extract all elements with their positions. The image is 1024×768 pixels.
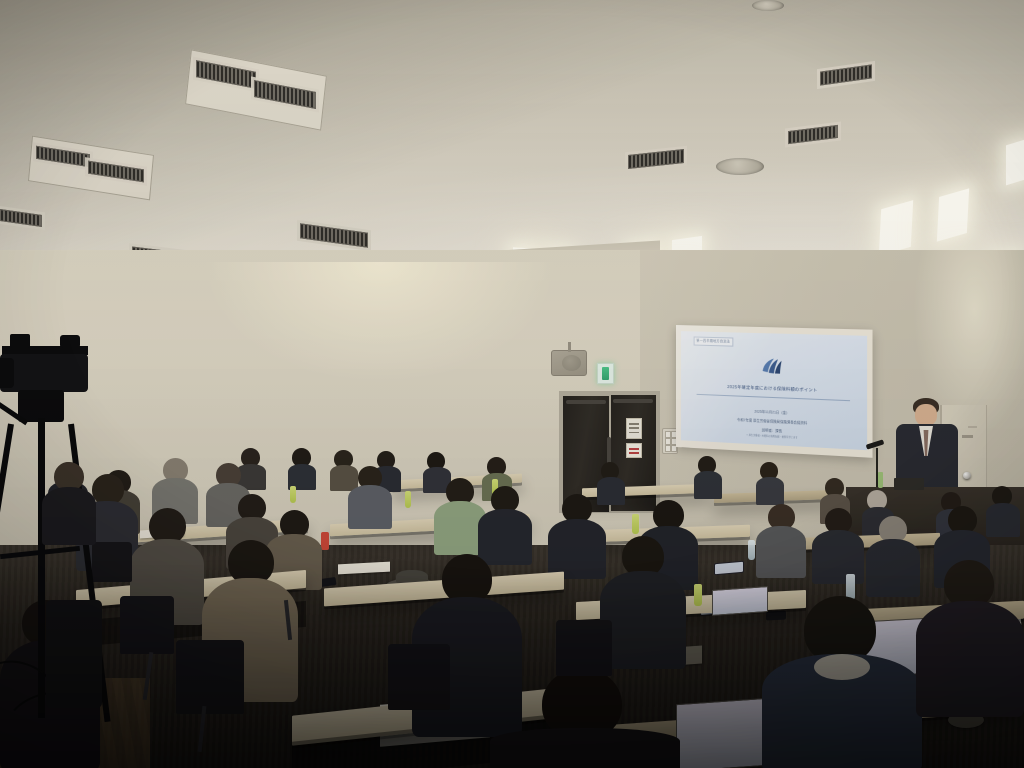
audience-chair[interactable]: [556, 620, 612, 676]
ceiling-light-panel: [1006, 139, 1024, 186]
ceiling-speaker-icon: [752, 0, 784, 11]
audience-member: [866, 516, 920, 594]
podium-side-knob: [963, 472, 970, 479]
audience-member: [694, 456, 722, 498]
audience-member: [756, 504, 806, 576]
audience-member: [756, 462, 784, 504]
seminar-room-photo: 第一四半期地方自治法 2025年確定年度における保険料額のポイント 2025年1…: [0, 0, 1024, 768]
audience-member: [600, 536, 686, 664]
water-bottle-green-tea: [290, 486, 296, 503]
audience-member: [490, 668, 680, 768]
person-torso: [42, 487, 96, 545]
audience-chair[interactable]: [388, 644, 450, 710]
bottle-cap-red: [321, 532, 329, 550]
slide-header: 第一四半期地方自治法: [693, 337, 733, 347]
audience-chair[interactable]: [176, 640, 244, 714]
audience-member: [986, 486, 1020, 534]
person-torso: [916, 601, 1024, 717]
presenter-water-bottle: [878, 472, 883, 488]
audience-member: [812, 508, 864, 582]
audience-member: [288, 448, 316, 488]
tablet-screen: [715, 562, 743, 574]
door-push-bar[interactable]: [613, 399, 653, 403]
person-torso: [866, 539, 920, 597]
speaker-mount: [568, 342, 571, 352]
person-collar: [814, 654, 870, 680]
person-torso: [986, 503, 1020, 537]
door-notice-upper: [626, 418, 642, 439]
camera-viewfinder: [10, 334, 30, 348]
presentation-slide: 第一四半期地方自治法 2025年確定年度における保険料額のポイント 2025年1…: [681, 331, 867, 450]
person-torso: [548, 519, 606, 579]
emergency-exit-sign-icon: [597, 363, 614, 384]
projection-screen: 第一四半期地方自治法 2025年確定年度における保険料額のポイント 2025年1…: [676, 325, 873, 458]
person-torso: [756, 526, 806, 578]
person-torso: [490, 728, 680, 768]
camera-lens: [0, 358, 14, 388]
water-bottle-clear: [748, 540, 755, 560]
person-torso: [348, 485, 392, 529]
camera-operator: [42, 462, 96, 542]
camera-mic-mount: [60, 335, 80, 348]
person-torso: [600, 571, 686, 669]
organization-logo-icon: [759, 355, 786, 376]
audience-member: [478, 486, 532, 564]
ceiling-light-panel: [879, 200, 913, 256]
door-push-bar[interactable]: [566, 400, 606, 404]
door-notice-lower: [626, 443, 642, 458]
ceiling-light-panel: [937, 188, 969, 241]
laptop-open[interactable]: [712, 586, 768, 616]
audience-member: [348, 466, 392, 528]
slide-title: 2025年確定年度における保険料額のポイント: [695, 383, 851, 395]
ceiling-speaker-icon: [716, 158, 764, 175]
presenter-face: [915, 404, 937, 426]
audience-member: [916, 560, 1024, 710]
person-torso: [756, 477, 784, 505]
presenter-laptop: [894, 478, 924, 490]
person-torso: [812, 530, 864, 584]
audience-member: [548, 494, 606, 578]
broadcast-video-camera: [0, 332, 162, 768]
wall-speaker-icon: [551, 350, 587, 376]
person-torso: [694, 471, 722, 499]
audience-member: [762, 596, 922, 768]
slide-divider: [697, 394, 850, 401]
water-bottle-green-tea: [405, 491, 411, 508]
water-bottle-green-tea: [694, 584, 702, 606]
laptop-screen: [712, 586, 768, 616]
equipment-case: [46, 600, 102, 708]
